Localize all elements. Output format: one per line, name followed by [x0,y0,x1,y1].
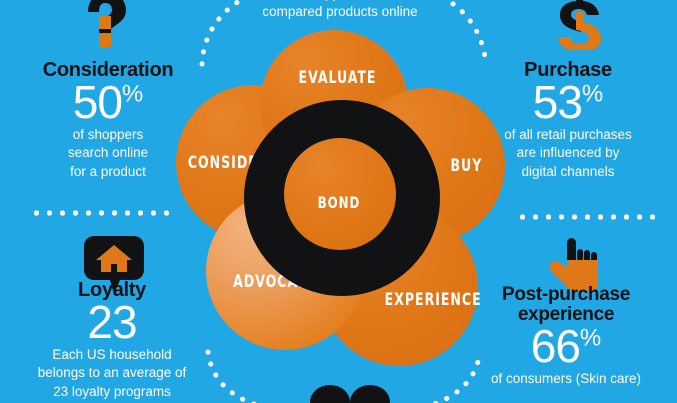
stat-consideration-value: 50% [73,81,144,125]
stat-purchase-number: 53 [533,76,582,128]
dotted-separator-right [516,214,659,220]
customer-journey-diagram: CONSIDER EVALUATE BUY EXPERIENCE ADVOCAT… [168,30,508,390]
stat-purchase-unit: % [582,81,603,108]
stat-block-purchase: Purchase 53% of all retail purchases are… [468,60,668,180]
stat-top-sub-line1: of shoppers have [215,0,465,2]
stat-purchase-sub-line1: of all retail purchases [468,127,668,143]
stat-consideration-sub-line1: of shoppers [8,127,208,143]
stat-loyalty-sub-line2: belongs to an average of [12,365,212,381]
stat-post-purchase-value: 66% [531,325,602,369]
speech-bubbles-icon [306,376,394,403]
stat-loyalty-sub-line3: 23 loyalty programs [12,384,212,400]
stat-post-purchase-number: 66 [531,320,580,372]
diagram-lobe-label-evaluate: EVALUATE [299,68,377,88]
stat-top-sub-line2: compared products online [215,4,465,20]
stat-consideration-unit: % [122,81,143,108]
stat-consideration-number: 50 [73,76,122,128]
stat-block-post-purchase: Post-purchase experience 66% of consumer… [466,285,666,387]
stat-block-consideration: Consideration 50% of shoppers search onl… [8,60,208,180]
stat-loyalty-sub-line1: Each US household [12,347,212,363]
stat-consideration-sub-line2: search online [8,145,208,161]
dotted-separator-left [30,210,173,216]
stat-purchase-sub-line2: are influenced by [468,145,668,161]
stat-loyalty-number: 23 [87,296,136,348]
stat-loyalty-value: 23 [87,301,136,345]
stat-block-loyalty: Loyalty 23 Each US household belongs to … [12,280,212,400]
stat-purchase-value: 53% [533,81,604,125]
stat-post-purchase-title-line1: Post-purchase [466,285,666,305]
stat-consideration-sub-line3: for a product [8,164,208,180]
diagram-center-label: BOND [298,193,380,212]
stat-purchase-sub-line3: digital channels [468,164,668,180]
infographic-canvas: CONSIDER EVALUATE BUY EXPERIENCE ADVOCAT… [0,0,677,403]
question-mark-icon [74,0,136,50]
dollar-sign-icon [548,0,610,50]
stat-block-top: of shoppers have compared products onlin… [215,0,465,21]
stat-post-purchase-unit: % [580,325,601,352]
stat-post-purchase-sub-line1: of consumers (Skin care) [466,371,666,387]
